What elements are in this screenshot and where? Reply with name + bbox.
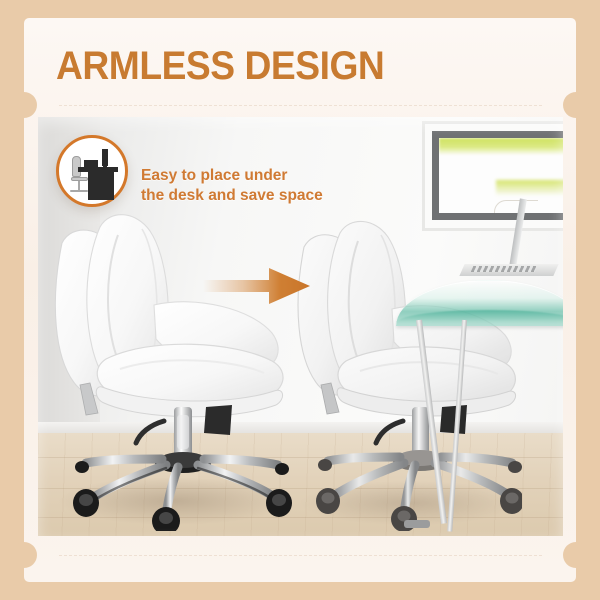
dotted-divider-top xyxy=(58,105,542,106)
notch-top-right xyxy=(563,92,589,118)
dotted-divider-bottom xyxy=(58,555,542,556)
desk-leg xyxy=(416,320,447,524)
chair-left xyxy=(46,209,292,531)
page-title: ARMLESS DESIGN xyxy=(56,44,384,89)
right-arrow-icon xyxy=(203,266,311,306)
desk-leg xyxy=(447,320,467,532)
ticket-card: ARMLESS DESIGN xyxy=(24,18,576,582)
desk-with-chair-tucked-icon xyxy=(59,138,125,204)
notch-top-left xyxy=(11,92,37,118)
product-photo: Easy to place under the desk and save sp… xyxy=(38,117,563,536)
foliage-icon xyxy=(439,138,563,155)
foliage-icon xyxy=(496,180,563,196)
feature-caption: Easy to place under the desk and save sp… xyxy=(141,166,323,207)
feature-badge xyxy=(56,135,128,207)
notch-bottom-left xyxy=(11,542,37,568)
caption-line-1: Easy to place under xyxy=(141,166,323,186)
notch-bottom-right xyxy=(563,542,589,568)
caption-line-2: the desk and save space xyxy=(141,186,323,206)
desk-foot xyxy=(404,520,430,528)
window xyxy=(422,121,563,231)
glass-desk xyxy=(396,280,563,535)
